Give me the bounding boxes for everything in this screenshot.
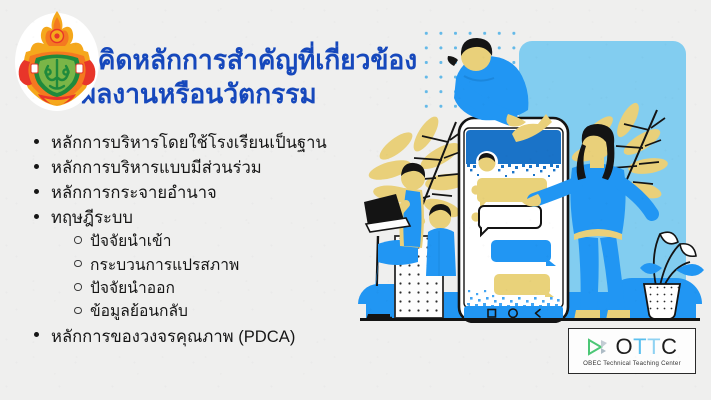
list-item: หลักการบริหารแบบมีส่วนร่วม [34, 158, 364, 178]
sub-list-item: ข้อมูลย้อนกลับ [74, 303, 364, 321]
bullet-marker-filled [34, 330, 51, 345]
bullet-marker-hollow [74, 306, 90, 318]
list-item-label: หลักการบริหารแบบมีส่วนร่วม [51, 158, 262, 178]
slide-canvas: แนวคิดหลักการสำคัญที่เกี่ยวข้อง กับผลงาน… [0, 0, 711, 400]
sub-list-item-label: ปัจจัยนำเข้า [90, 233, 171, 251]
bullet-marker-hollow [74, 236, 90, 248]
bullet-marker-filled [34, 161, 51, 176]
page-title-line2: กับผลงานหรือนวัตกรรม [48, 78, 478, 112]
bullet-marker-hollow [74, 260, 90, 272]
list-item-label: ทฤษฎีระบบ [51, 208, 133, 228]
page-title: แนวคิดหลักการสำคัญที่เกี่ยวข้อง กับผลงาน… [48, 44, 478, 112]
sub-list-item: ปัจจัยนำเข้า [74, 233, 364, 251]
sub-list-item-label: กระบวนการแปรสภาพ [90, 257, 239, 275]
ottc-letter-c: C [661, 336, 677, 358]
sub-list-item-label: ข้อมูลย้อนกลับ [90, 303, 188, 321]
sub-list-item: กระบวนการแปรสภาพ [74, 257, 364, 275]
ottc-logo-row: O T T C [587, 335, 678, 358]
sub-list-item-label: ปัจจัยนำออก [90, 280, 175, 298]
list-item: หลักการของวงจรคุณภาพ (PDCA) [34, 327, 364, 347]
bullet-marker-hollow [74, 283, 90, 295]
bullet-list: หลักการบริหารโดยใช้โรงเรียนเป็นฐาน หลักก… [34, 133, 364, 352]
ottc-letter-o: O [616, 336, 634, 358]
page-title-line1: แนวคิดหลักการสำคัญที่เกี่ยวข้อง [48, 44, 478, 78]
bullet-marker-filled [34, 186, 51, 201]
ottc-tagline: OBEC Technical Teaching Center [583, 360, 681, 367]
ottc-logo-card: O T T C OBEC Technical Teaching Center [568, 328, 696, 374]
play-triangle-mark-icon [587, 337, 613, 357]
potted-plant [640, 232, 704, 319]
ground-line [360, 318, 700, 321]
ottc-wordmark: O T T C [616, 336, 678, 358]
list-item-label: หลักการกระจายอำนาจ [51, 183, 217, 203]
smartphone [459, 118, 568, 322]
list-item: หลักการกระจายอำนาจ [34, 183, 364, 203]
chat-bubble-blue-1 [491, 240, 551, 262]
bullet-marker-filled [34, 211, 51, 226]
obec-thai-royal-emblem [14, 8, 100, 111]
ottc-letter-t2: T [647, 336, 661, 358]
chat-bubble-yellow-2 [494, 274, 550, 295]
bullet-marker-filled [34, 136, 51, 151]
list-item-label: หลักการบริหารโดยใช้โรงเรียนเป็นฐาน [51, 133, 327, 153]
list-item: ทฤษฎีระบบ [34, 208, 364, 228]
sub-list-item: ปัจจัยนำออก [74, 280, 364, 298]
list-item-label: หลักการของวงจรคุณภาพ (PDCA) [51, 327, 295, 347]
ottc-letter-t1: T [633, 336, 647, 358]
list-item: หลักการบริหารโดยใช้โรงเรียนเป็นฐาน [34, 133, 364, 153]
